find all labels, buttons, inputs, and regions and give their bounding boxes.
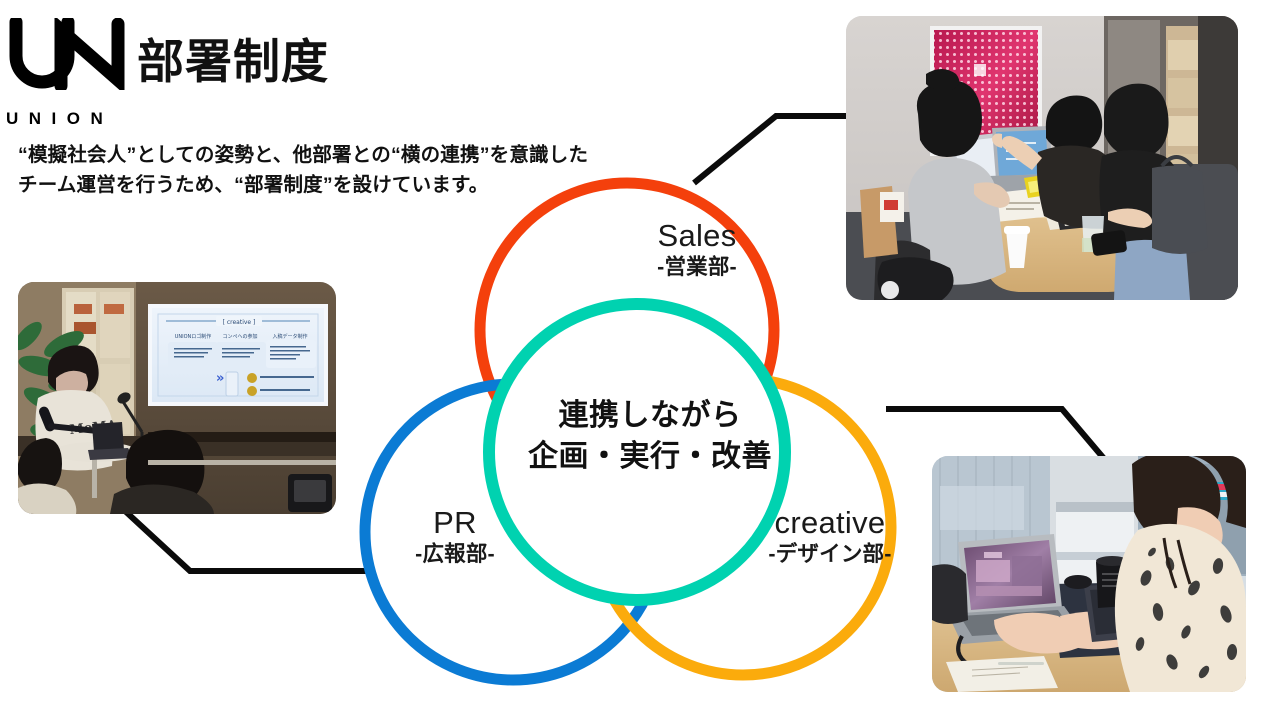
slide-canvas: UNION 部署制度 “模擬社会人”としての姿勢と、他部署との“横の連携”を意識… <box>0 0 1280 720</box>
photo-meeting-image <box>846 16 1238 300</box>
venn-label-creative-jp: -デザイン部- <box>715 542 945 567</box>
venn-label-sales: Sales -営業部- <box>597 218 797 280</box>
photo-meeting <box>846 16 1238 300</box>
venn-label-sales-en: Sales <box>597 218 797 255</box>
connector-pr-to-presentation <box>124 510 366 571</box>
venn-label-pr: PR -広報部- <box>365 505 545 567</box>
photo-design <box>932 456 1246 692</box>
svg-text:[ creative ]: [ creative ] <box>223 319 256 326</box>
venn-center-line2: 企画・実行・改善 <box>485 436 815 477</box>
venn-label-pr-en: PR <box>365 505 545 542</box>
un-monogram-icon <box>6 18 134 90</box>
svg-text:»: » <box>216 371 224 386</box>
svg-text:コンペへの参加: コンペへの参加 <box>222 333 257 340</box>
venn-label-creative: creative -デザイン部- <box>715 505 945 567</box>
page-title: 部署制度 <box>137 38 329 85</box>
photo-presentation-image: [ creative ] UNIONロゴ制作 コンペへの参加 入稿データ制作 » <box>18 282 336 514</box>
venn-center-line1: 連携しながら <box>485 395 815 436</box>
svg-text:UNIONロゴ制作: UNIONロゴ制作 <box>175 333 212 340</box>
photo-presentation: [ creative ] UNIONロゴ制作 コンペへの参加 入稿データ制作 » <box>18 282 336 514</box>
brand-logo: UNION <box>6 18 136 118</box>
venn-center-text: 連携しながら 企画・実行・改善 <box>485 395 815 478</box>
venn-label-sales-jp: -営業部- <box>597 255 797 280</box>
venn-label-creative-en: creative <box>715 505 945 542</box>
venn-label-pr-jp: -広報部- <box>365 542 545 567</box>
svg-text:入稿データ制作: 入稿データ制作 <box>272 333 307 340</box>
brand-wordmark: UNION <box>6 110 113 127</box>
photo-design-image <box>932 456 1246 692</box>
